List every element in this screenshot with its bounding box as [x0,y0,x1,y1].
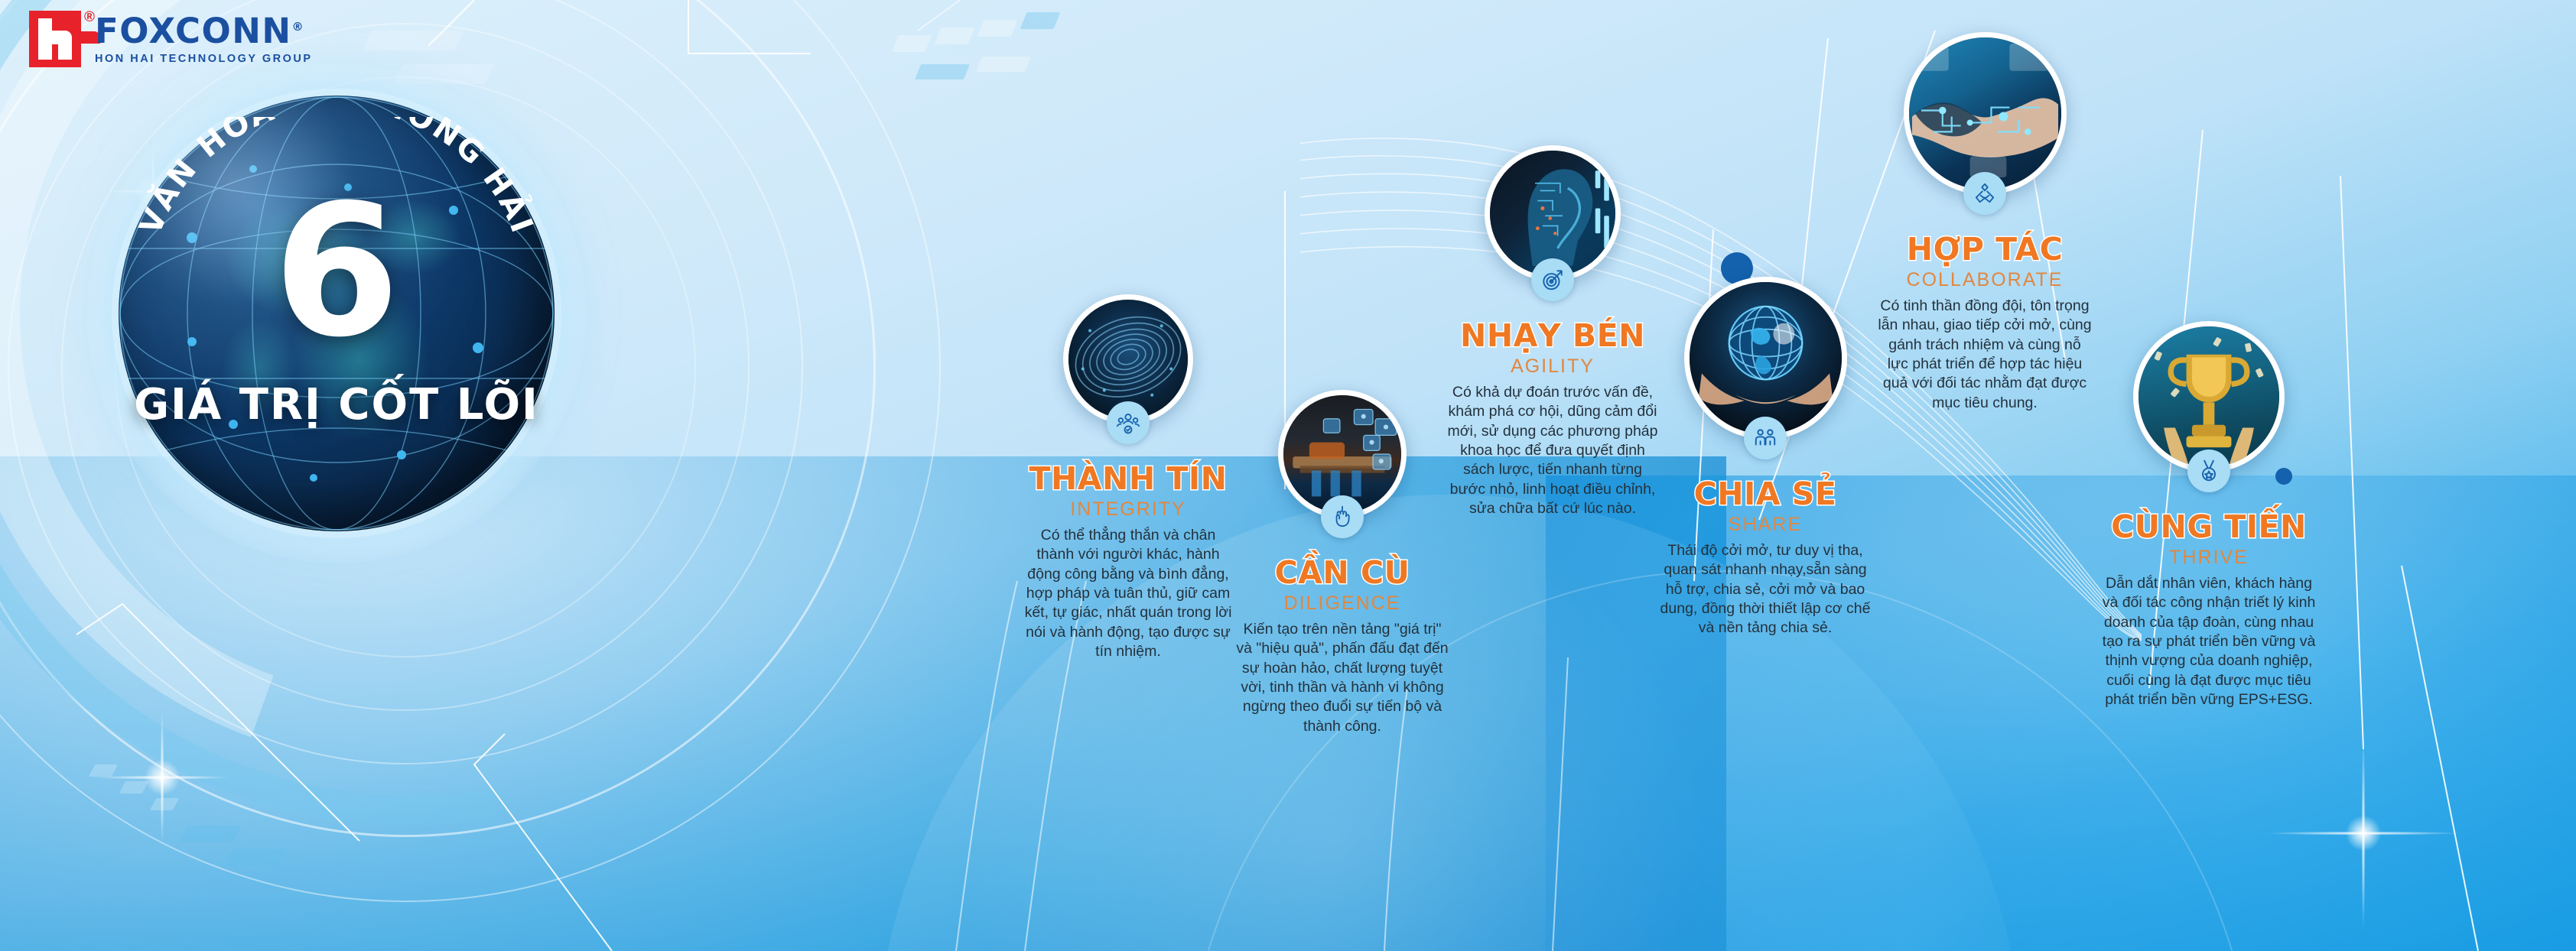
value-title-vi-5: HỢP TÁC [1878,233,2092,266]
value-title-en-3: AGILITY [1446,355,1660,378]
value-card-diligence[interactable]: CẦN CÙ DILIGENCE Kiến tạo trên nền tảng … [1235,390,1449,736]
digital-handshake-photo [1904,32,2067,195]
value-title-vi-2: CẦN CÙ [1235,557,1449,589]
value-text-2: CẦN CÙ DILIGENCE Kiến tạo trên nền tảng … [1235,557,1449,736]
logo-tagline: HON HAI TECHNOLOGY GROUP [95,53,313,65]
value-photo-wrap-1 [1063,294,1193,424]
value-description-5: Có tinh thần đồng đội, tôn trọng lẫn nha… [1878,297,2092,413]
value-text-5: HỢP TÁC COLLABORATE Có tinh thần đồng độ… [1878,233,2092,413]
central-globe-block: VĂN HÓA MỚI HỒNG HẢI 6 GIÁ TRỊ CỐT LÕI [119,96,555,531]
foxconn-logo-mark: ® [29,11,81,67]
value-description-3: Có khả dự đoán trước vấn đề, khám phá cơ… [1446,383,1660,518]
value-description-6: Dẫn dắt nhân viên, khách hàng và đối tác… [2102,574,2316,709]
value-description-4: Thái độ cởi mở, tư duy vị tha, quan sát … [1658,541,1872,638]
value-title-en-5: COLLABORATE [1878,269,2092,291]
value-photo-wrap-4 [1684,277,1847,440]
value-title-en-6: THRIVE [2102,547,2316,569]
foxconn-logo: ® FOXCONN® HON HAI TECHNOLOGY GROUP [29,11,313,67]
hands-holding-globe-photo [1684,277,1847,440]
logo-wordmark: FOXCONN® [95,14,313,48]
value-card-integrity[interactable]: THÀNH TÍN INTEGRITY Có thể thẳng thắn và… [1021,294,1235,661]
value-title-vi-6: CÙNG TIẾN [2102,511,2316,544]
value-text-6: CÙNG TIẾN THRIVE Dẫn dắt nhân viên, khác… [2102,511,2316,709]
ai-face-detail [1490,151,1615,276]
hands-together-icon [1963,172,2006,215]
medal-award-icon [2187,450,2230,492]
value-description-1: Có thể thẳng thắn và chân thành với ngườ… [1021,526,1235,661]
value-photo-wrap-5 [1904,32,2067,195]
value-text-3: NHẠY BÉN AGILITY Có khả dự đoán trước vấ… [1446,320,1660,518]
sparkle-bottom-right [2264,734,2463,933]
value-title-vi-4: CHIA SẺ [1658,478,1872,511]
value-card-agility[interactable]: NHẠY BÉN AGILITY Có khả dự đoán trước vấ… [1446,145,1660,518]
core-value-count: 6 [119,181,555,363]
trophy-detail [2139,326,2279,467]
logo-registered-mark: ® [84,9,95,26]
value-title-vi-1: THÀNH TÍN [1021,463,1235,495]
value-photo-wrap-6 [2133,321,2285,472]
value-title-en-4: SHARE [1658,514,1872,536]
value-text-4: CHIA SẺ SHARE Thái độ cởi mở, tư duy vị … [1658,478,1872,638]
value-title-en-2: DILIGENCE [1235,592,1449,615]
logo-wordmark-registered: ® [292,20,305,34]
value-title-vi-3: NHẠY BÉN [1446,320,1660,352]
value-description-2: Kiến tạo trên nền tảng "giá trị" và "hiệ… [1235,620,1449,736]
target-dart-icon [1531,258,1574,301]
value-text-1: THÀNH TÍN INTEGRITY Có thể thẳng thắn và… [1021,463,1235,661]
handshake-detail [1909,37,2061,190]
people-verified-icon [1107,401,1150,444]
value-card-collaborate[interactable]: HỢP TÁC COLLABORATE Có tinh thần đồng độ… [1878,32,2092,413]
value-title-en-1: INTEGRITY [1021,498,1235,521]
hands-globe-detail [1690,282,1842,434]
sparkle-bottom-left [93,709,231,846]
value-photo-wrap-3 [1485,145,1621,281]
value-card-share[interactable]: CHIA SẺ SHARE Thái độ cởi mở, tư duy vị … [1658,277,1872,638]
logo-h-leg [58,31,72,60]
value-card-thrive[interactable]: CÙNG TIẾN THRIVE Dẫn dắt nhân viên, khác… [2102,321,2316,709]
two-people-share-icon [1744,417,1787,459]
tech-block-cluster-top [895,5,1086,96]
logo-text-block: FOXCONN® HON HAI TECHNOLOGY GROUP [95,11,313,65]
core-value-subtitle: GIÁ TRỊ CỐT LÕI [119,380,555,430]
logo-wordmark-text: FOXCONN [95,11,292,51]
raised-fist-icon [1321,495,1364,538]
value-photo-wrap-2 [1278,390,1407,518]
